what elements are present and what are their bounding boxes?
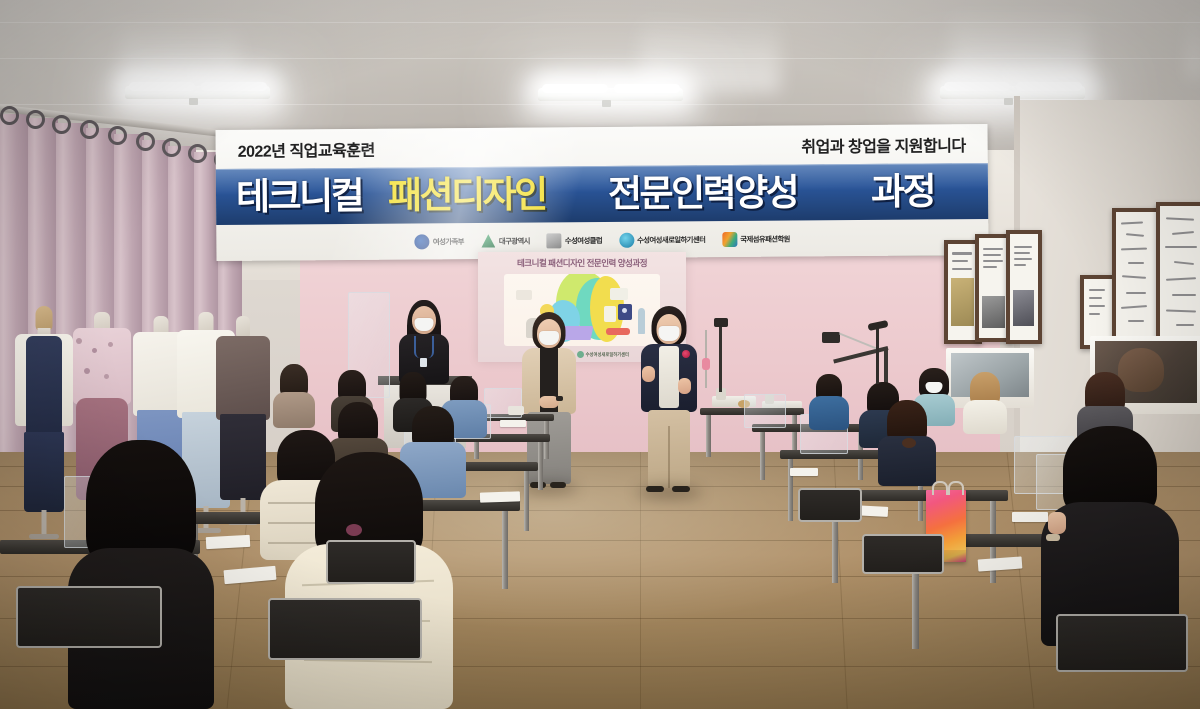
torso — [963, 400, 1007, 434]
corsage — [682, 350, 690, 358]
desk-lamp — [714, 318, 728, 392]
chair — [16, 586, 158, 644]
audience-member — [66, 440, 216, 709]
sponsor-logo: 국제섬유패션학원 — [722, 231, 790, 247]
event-banner: 2022년 직업교육훈련 취업과 창업을 지원합니다 테크니컬 패션디자인 전문… — [215, 124, 988, 261]
thread-stand — [700, 330, 712, 388]
sponsor-name: 수성여성새로일하기센터 — [637, 234, 705, 246]
banner-title-part-3: 전문인력양성 — [608, 174, 798, 212]
sponsor-name: 국제섬유패션학원 — [740, 233, 790, 244]
audience-member — [1040, 426, 1180, 646]
garment-bottom — [24, 432, 64, 512]
blouse — [659, 346, 679, 408]
id-badge — [420, 358, 427, 367]
sponsor-logo: 대구광역시 — [481, 233, 530, 248]
microphone-stand — [866, 322, 890, 384]
face-mask — [659, 326, 680, 341]
wristwatch — [556, 396, 563, 401]
chair — [798, 488, 858, 518]
sponsor-logo: 수성여성새로일하기센터 — [619, 232, 705, 248]
audience-member — [876, 400, 938, 486]
sponsor-logo: 수성여성클럽 — [547, 233, 602, 248]
chair — [326, 540, 412, 580]
lanyard — [414, 336, 434, 358]
club-emblem-icon — [547, 233, 562, 248]
paper-sheet — [790, 468, 818, 476]
banner-subtitle-left: 2022년 직업교육훈련 — [238, 137, 375, 162]
signature-board-left — [1112, 208, 1162, 342]
audience-member — [272, 364, 316, 428]
banner-title-part-1: 테크니컬 — [236, 177, 362, 215]
device-box — [508, 406, 524, 415]
acrylic-divider — [744, 394, 786, 428]
banner-title-band: 테크니컬 패션디자인 전문인력양성 과정 — [216, 163, 988, 225]
presenter-speaker-right — [636, 306, 702, 498]
hand-gesture — [642, 366, 655, 382]
paper-sheet — [1012, 512, 1048, 522]
academy-emblem-icon — [722, 231, 737, 246]
paper-sheet — [480, 491, 520, 502]
certificate-frame-small — [1006, 230, 1042, 344]
hand-on-mic — [678, 378, 691, 394]
chair — [1056, 614, 1184, 668]
torso — [273, 392, 315, 428]
hair-tie — [346, 524, 362, 536]
slide-logo: 수성여성새로일하기센터 — [577, 351, 629, 358]
sponsor-name: 여성가족부 — [433, 236, 464, 247]
ministry-emblem-icon — [415, 234, 430, 249]
garment-outer — [26, 336, 62, 436]
torso — [809, 396, 849, 430]
classroom-photo: 2022년 직업교육훈련 취업과 창업을 지원합니다 테크니컬 패션디자인 전문… — [0, 0, 1200, 709]
face-mask — [539, 331, 559, 345]
hair-tie — [902, 438, 916, 448]
garment-brown-jacket — [216, 336, 270, 420]
audience-member — [962, 372, 1008, 434]
city-emblem-icon — [481, 233, 496, 248]
audience-member — [808, 374, 850, 430]
banner-title-part-2: 패션디자인 — [388, 176, 546, 214]
sponsor-name: 수성여성클럽 — [565, 235, 602, 246]
banner-title-part-4: 과정 — [871, 173, 934, 210]
sponsor-logo: 여성가족부 — [415, 234, 464, 249]
chair — [268, 598, 418, 656]
hand-at-face — [1048, 512, 1066, 534]
center-emblem-icon — [619, 232, 634, 247]
banner-subtitle-right: 취업과 창업을 지원합니다 — [801, 132, 965, 157]
slide-logo-label: 수성여성새로일하기센터 — [586, 352, 629, 358]
face-mask — [415, 318, 434, 331]
chair — [862, 534, 940, 570]
slide-title: 테크니컬 패션디자인 전문인력 양성과정 — [478, 257, 686, 269]
sponsor-name: 대구광역시 — [499, 235, 530, 246]
wristwatch — [1046, 534, 1060, 541]
signature-board-right — [1156, 202, 1200, 342]
paper-sheet — [500, 420, 526, 427]
